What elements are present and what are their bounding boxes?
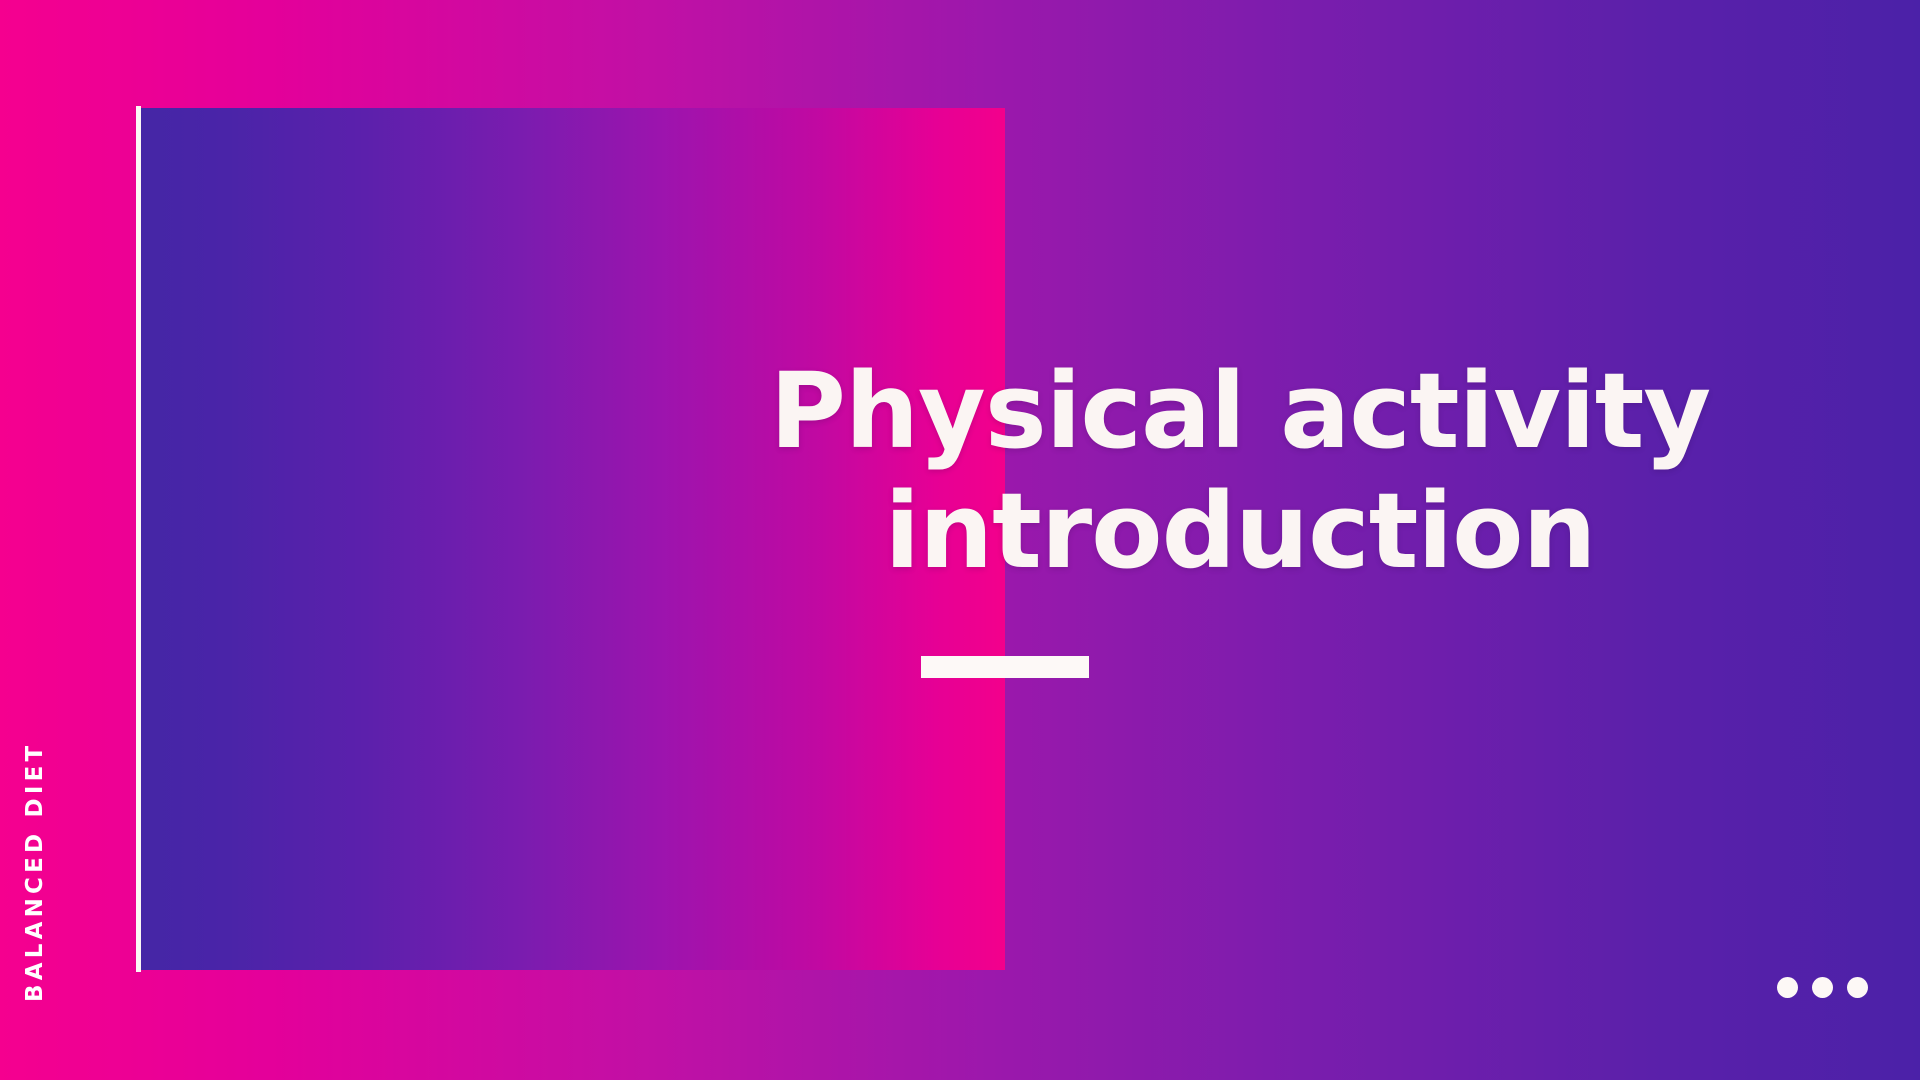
left-vertical-rule-icon — [136, 106, 141, 972]
dot-icon-2 — [1812, 977, 1833, 998]
page-title: Physical activity introduction — [640, 352, 1840, 591]
presentation-slide: BALANCED DIET Physical activity introduc… — [0, 0, 1920, 1080]
title-underline-bar — [921, 656, 1089, 678]
dot-icon-1 — [1777, 977, 1798, 998]
dot-icon-3 — [1847, 977, 1868, 998]
page-title-line-2: introduction — [640, 472, 1840, 592]
page-title-line-1: Physical activity — [640, 352, 1840, 472]
decorative-dot-group — [1777, 977, 1868, 998]
side-label: BALANCED DIET — [22, 742, 48, 1002]
